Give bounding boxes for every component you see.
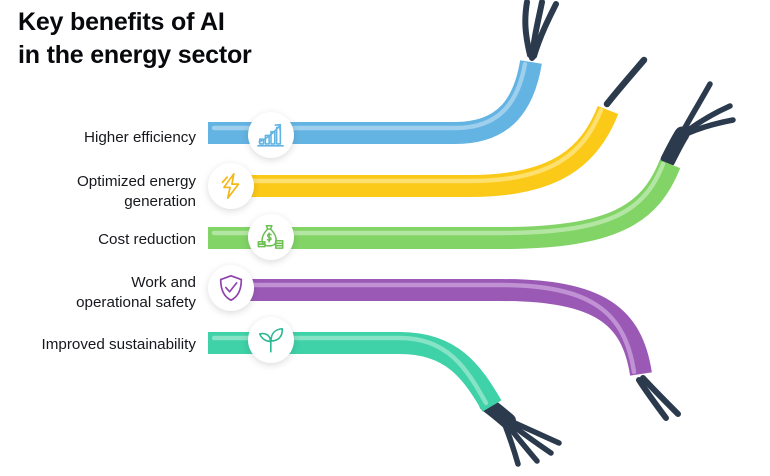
label-improved-sustainability: Improved sustainability xyxy=(0,335,196,355)
label-higher-efficiency: Higher efficiency xyxy=(0,128,196,148)
cable-wire-bundle xyxy=(668,134,682,160)
infographic-canvas: Key benefits of AI in the energy sector xyxy=(0,0,770,476)
label-work-operational-safety: Work and operational safety xyxy=(0,273,196,313)
money-bag-icon xyxy=(256,222,286,252)
icon-badge-improved-sustainability[interactable] xyxy=(248,317,294,363)
shield-check-icon xyxy=(216,273,246,303)
icon-badge-work-operational-safety[interactable] xyxy=(208,265,254,311)
label-cost-reduction: Cost reduction xyxy=(0,230,196,250)
label-optimized-energy-generation: Optimized energy generation xyxy=(0,172,196,212)
icon-badge-higher-efficiency[interactable] xyxy=(248,112,294,158)
icon-badge-optimized-energy-generation[interactable] xyxy=(208,163,254,209)
cable-cost-reduction xyxy=(208,84,733,238)
sprout-leaf-icon xyxy=(256,325,286,355)
cable-wire-strand xyxy=(607,60,644,104)
icon-badge-cost-reduction[interactable] xyxy=(248,214,294,260)
bar-chart-growth-icon xyxy=(256,120,286,150)
lightning-bolt-icon xyxy=(216,171,246,201)
cable-wire-strand xyxy=(525,2,530,55)
